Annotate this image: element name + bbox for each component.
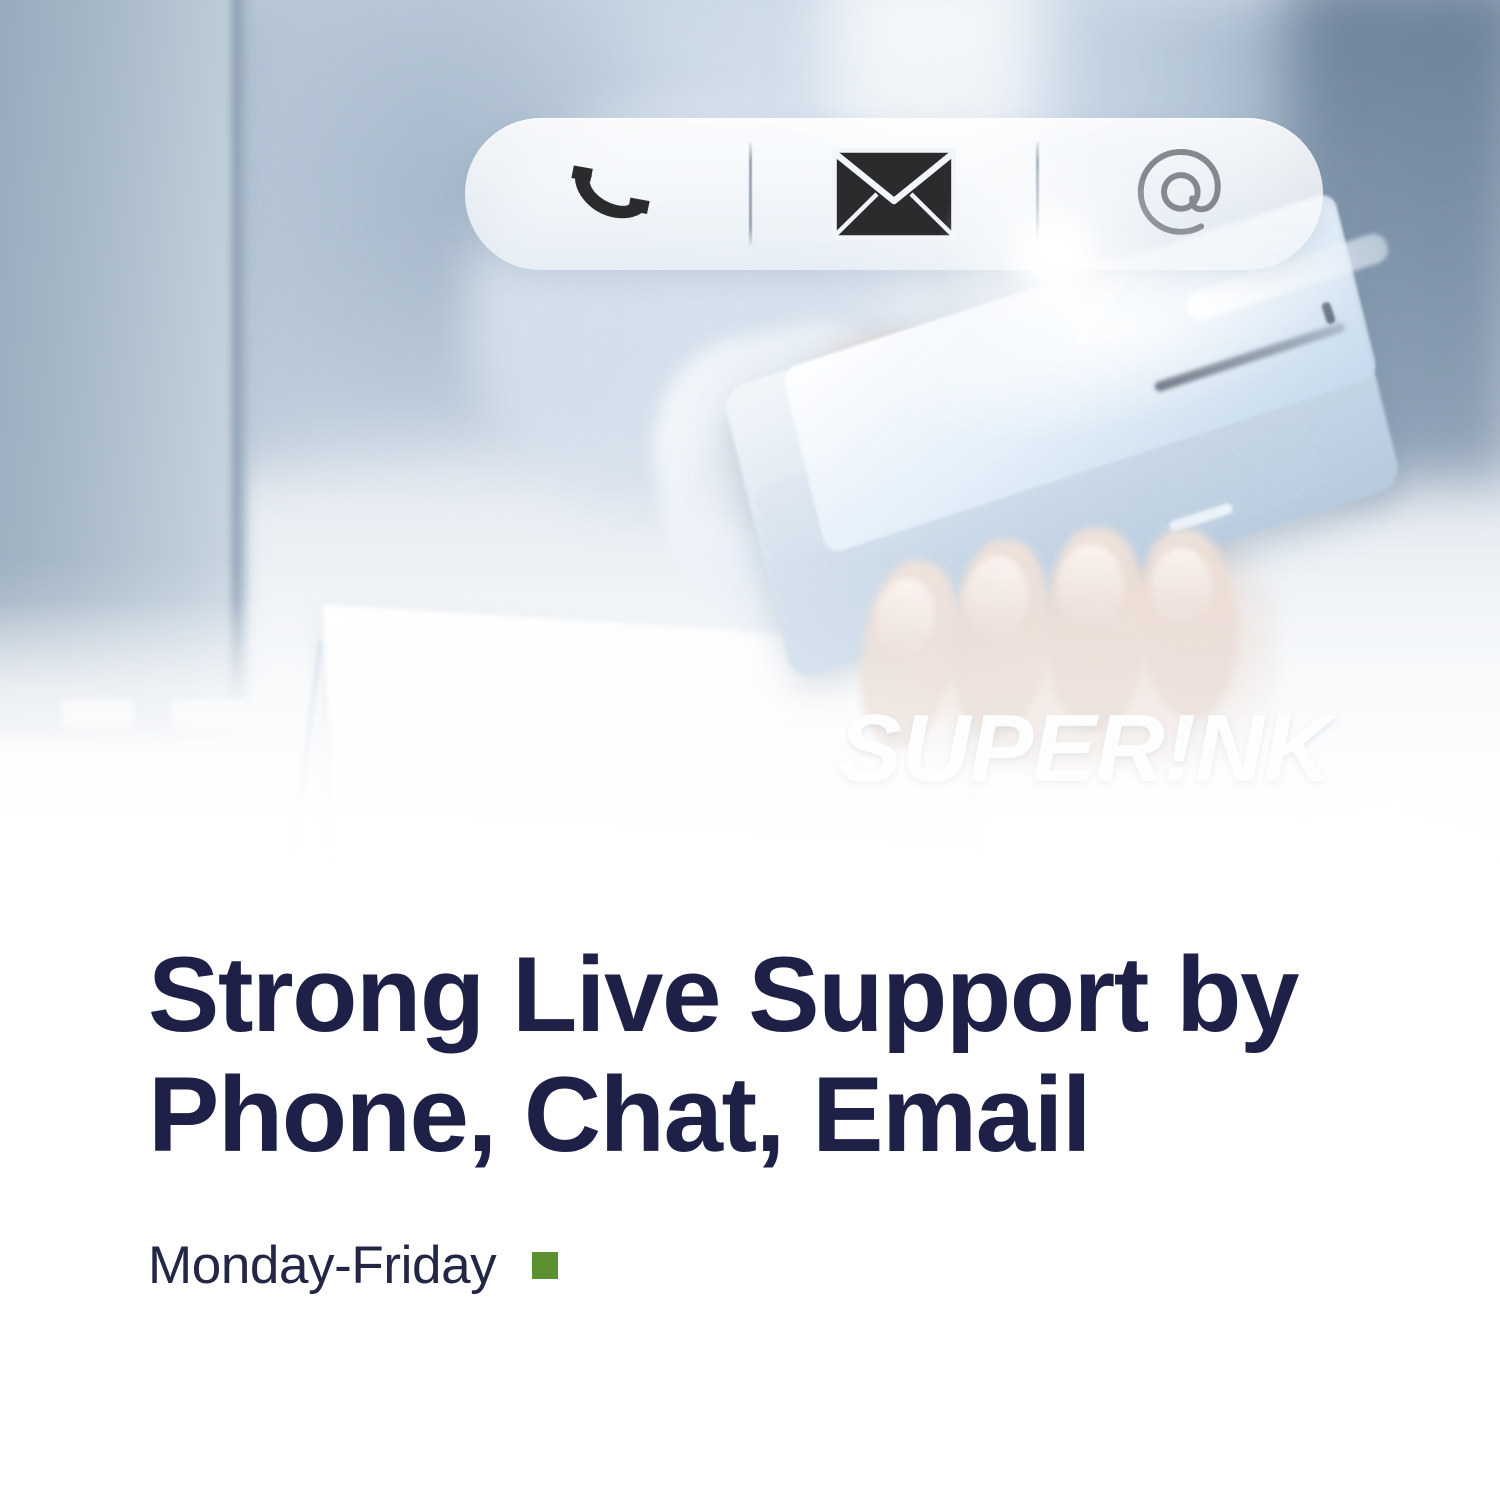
photo-laptop-edge [232,0,250,700]
speech-bubble-tail [1022,258,1142,350]
contact-separator [1036,142,1039,246]
banner-text-block: Strong Live Support by Phone, Chat, Emai… [148,935,1368,1296]
envelope-mail-icon [832,148,956,240]
contact-item-email[interactable] [752,118,1036,270]
at-sign-icon [1125,138,1237,250]
support-banner: SUPER!NK Strong Live Support by Phone, C… [0,0,1500,1500]
accent-square [532,1252,558,1279]
availability-text: Monday-Friday [148,1235,496,1296]
contact-item-at[interactable] [1039,118,1323,270]
phone-handset-icon [555,142,659,246]
contact-methods-bar [465,118,1323,270]
contact-item-phone[interactable] [465,118,749,270]
photo-fingernail [1057,543,1124,628]
hero-photo: SUPER!NK [0,0,1500,900]
availability-row: Monday-Friday [148,1235,1368,1296]
page-title: Strong Live Support by Phone, Chat, Emai… [148,935,1298,1175]
brand-watermark: SUPER!NK [838,694,1331,804]
contact-separator [749,142,752,246]
